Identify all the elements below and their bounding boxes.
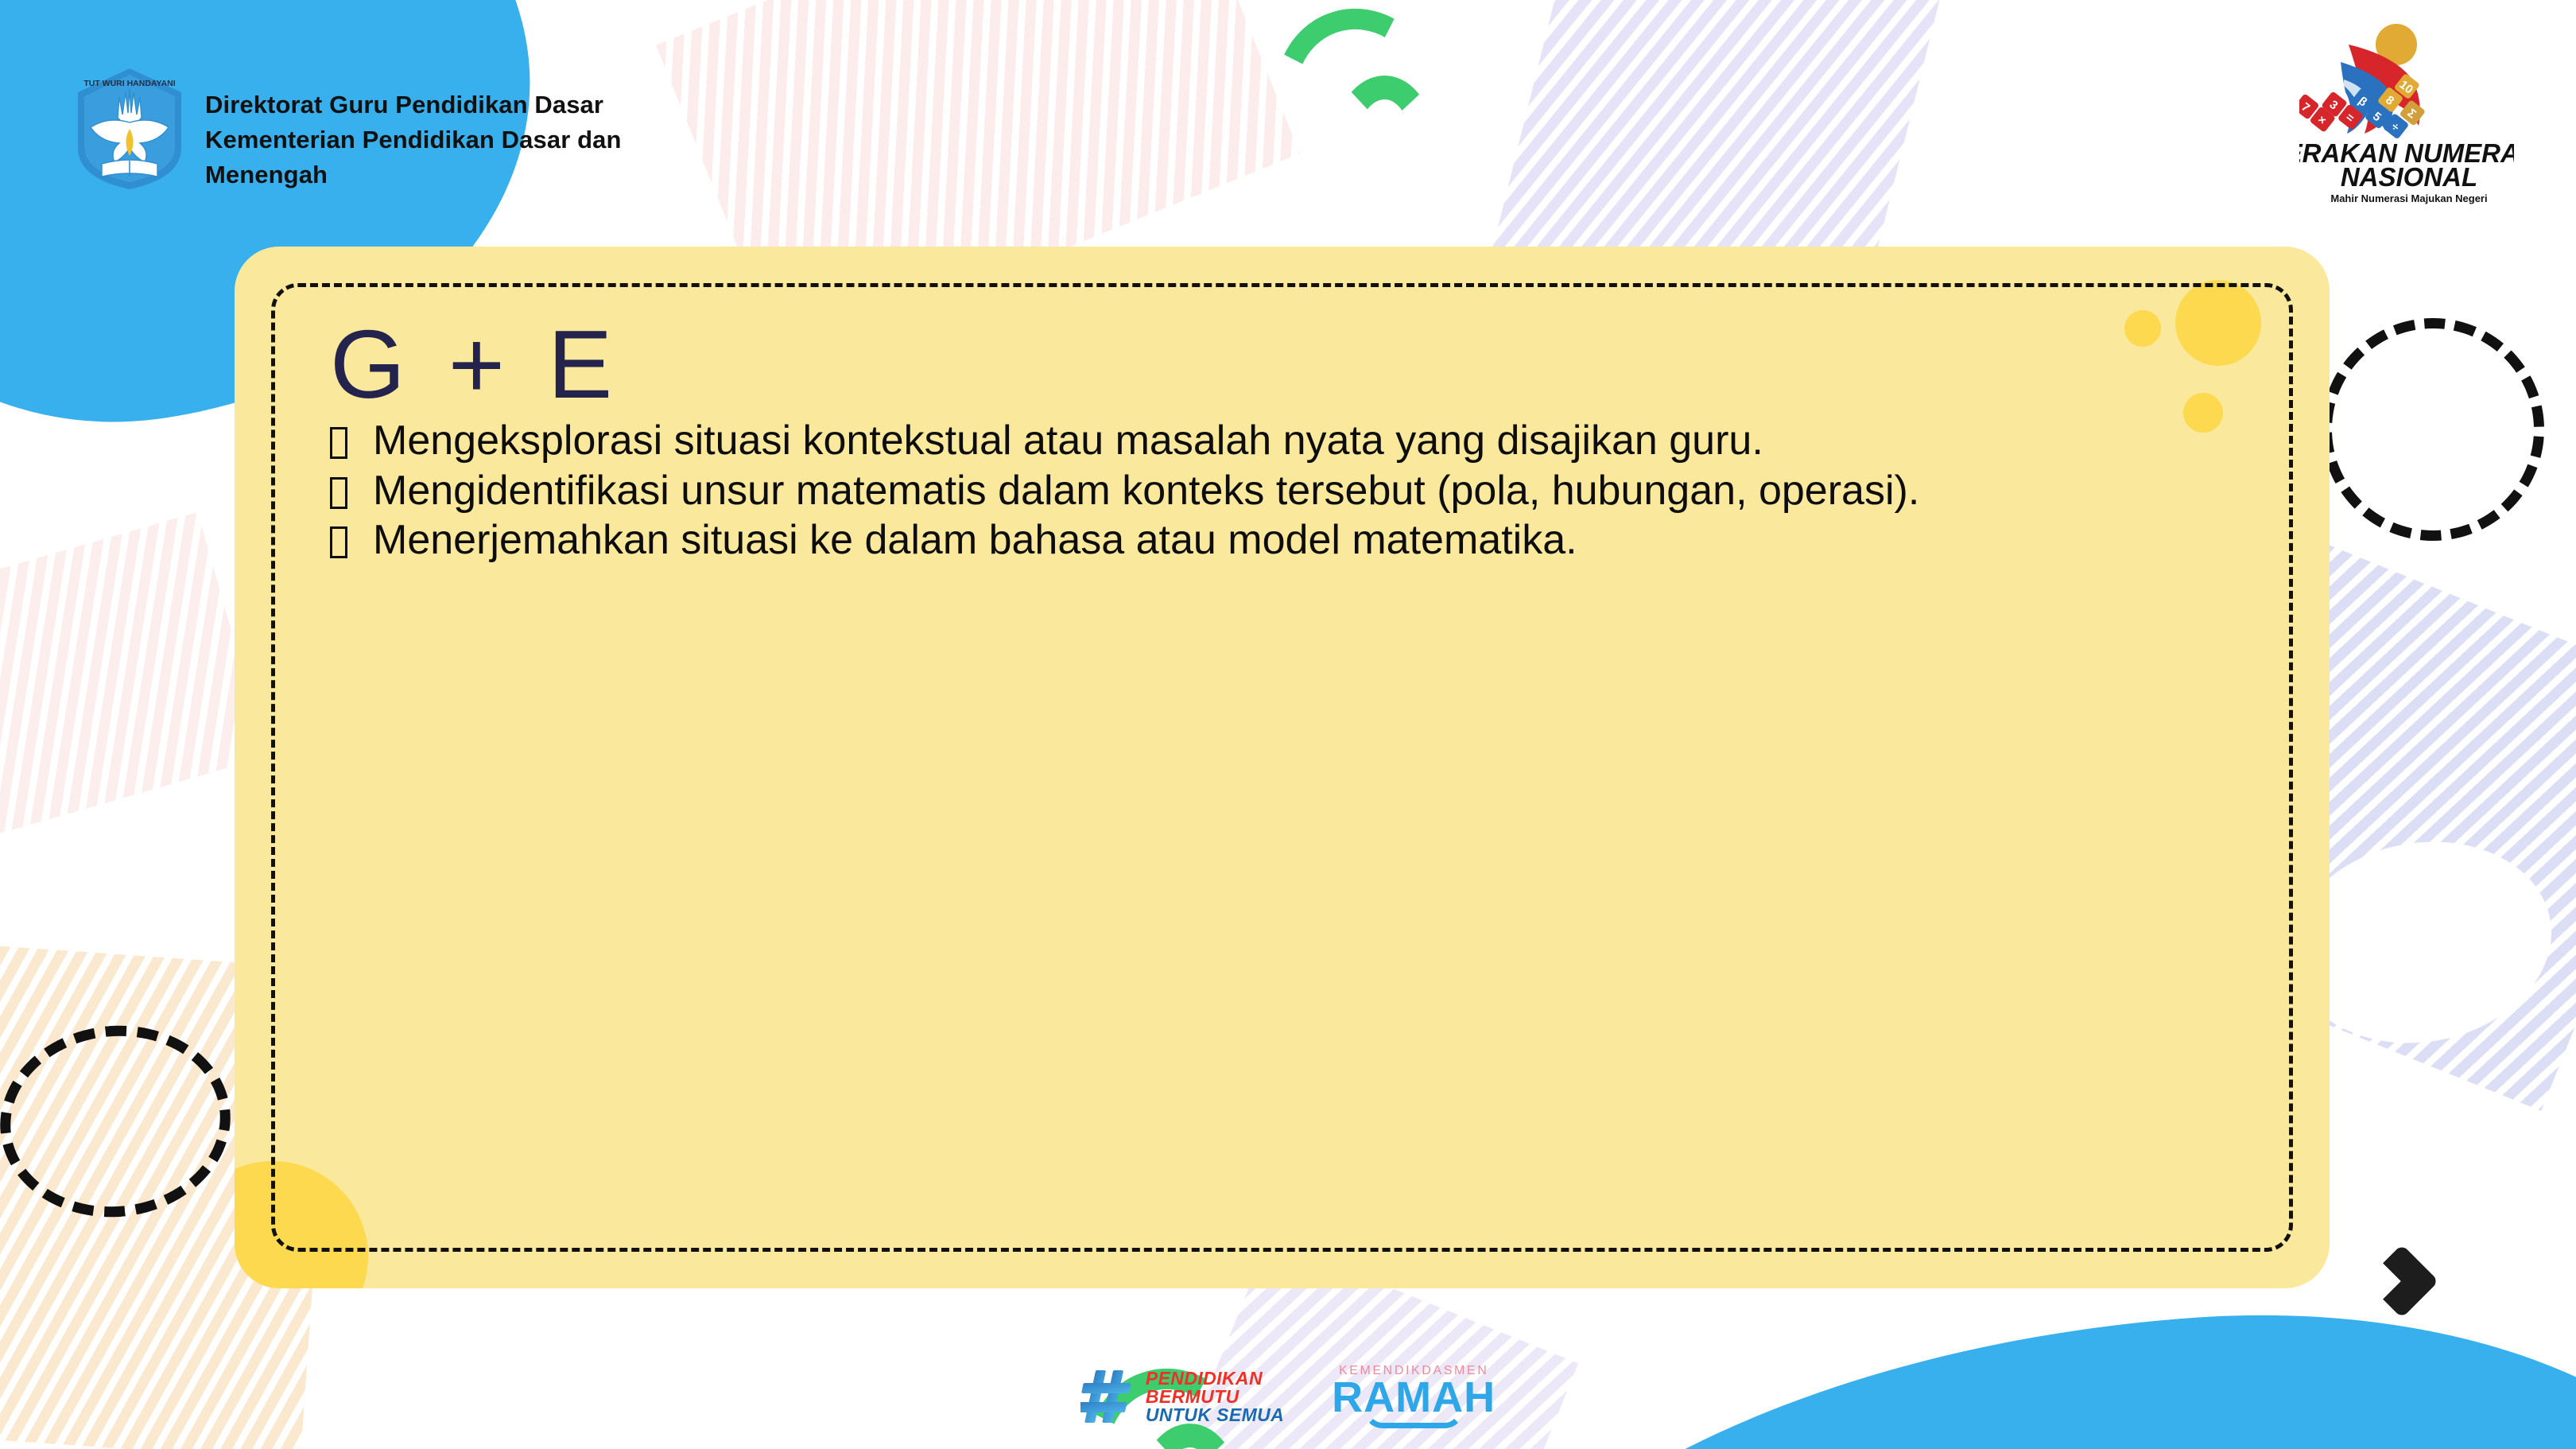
svg-text:Mahir Numerasi Majukan Negeri: Mahir Numerasi Majukan Negeri [2330,192,2487,204]
pendidikan-bermutu-line-1: PENDIDIKAN [1146,1369,1284,1388]
decorative-dot-corner-bottom-left [235,1161,368,1288]
pendidikan-bermutu-line-3: UNTUK SEMUA [1146,1406,1284,1424]
pendidikan-bermutu-line-2: BERMUTU [1146,1388,1284,1406]
hashtag-icon [1080,1367,1138,1426]
svg-text:NASIONAL: NASIONAL [2341,162,2477,192]
gerakan-numerasi-nasional-logo-icon: 10 Σ 8 ÷ β 5 3 = 7 × GERAKAN NUMERASI NA… [2299,6,2514,213]
kemendikdasmen-ramah-logo: KEMENDIKDASMEN RAMAH [1332,1365,1496,1428]
hatched-shape-pink-bottom-left [0,512,268,840]
page-header: TUT WURI HANDAYANI Direktorat Guru Pendi… [0,0,2576,239]
header-title-line-1: Direktorat Guru Pendidikan Dasar [205,87,714,122]
header-title: Direktorat Guru Pendidikan Dasar Kemente… [205,87,714,192]
list-item-text: Menerjemahkan situasi ke dalam bahasa at… [373,516,2258,564]
svg-text:TUT WURI HANDAYANI: TUT WURI HANDAYANI [83,79,175,88]
bullet-list: Mengeksplorasi situasi kontekstual atau … [330,417,2258,564]
list-item-text: Mengeksplorasi situasi kontekstual atau … [373,417,2258,464]
header-title-line-3: Menengah [205,157,714,192]
list-item: Menerjemahkan situasi ke dalam bahasa at… [330,516,2258,564]
ramah-wordmark: RAMAH [1332,1376,1496,1419]
page-title: G + E [330,315,2258,414]
bullet-marker-icon [330,417,373,464]
dashed-circle-doodle-right [2301,297,2565,561]
content-card: G + E Mengeksplorasi situasi kontekstual… [235,247,2330,1288]
chevron-right-icon-doodle [2365,1244,2438,1318]
list-item: Mengeksplorasi situasi kontekstual atau … [330,417,2258,464]
pendidikan-bermutu-logo: PENDIDIKAN BERMUTU UNTUK SEMUA [1080,1367,1284,1426]
tut-wuri-handayani-logo-icon: TUT WURI HANDAYANI [70,65,189,192]
header-title-line-2: Kementerian Pendidikan Dasar dan [205,122,714,157]
bullet-marker-icon [330,516,373,564]
list-item: Mengidentifikasi unsur matematis dalam k… [330,467,2258,515]
page-footer: PENDIDIKAN BERMUTU UNTUK SEMUA KEMENDIKD… [0,1365,2576,1428]
list-item-text: Mengidentifikasi unsur matematis dalam k… [373,467,2258,515]
bullet-marker-icon [330,467,373,515]
